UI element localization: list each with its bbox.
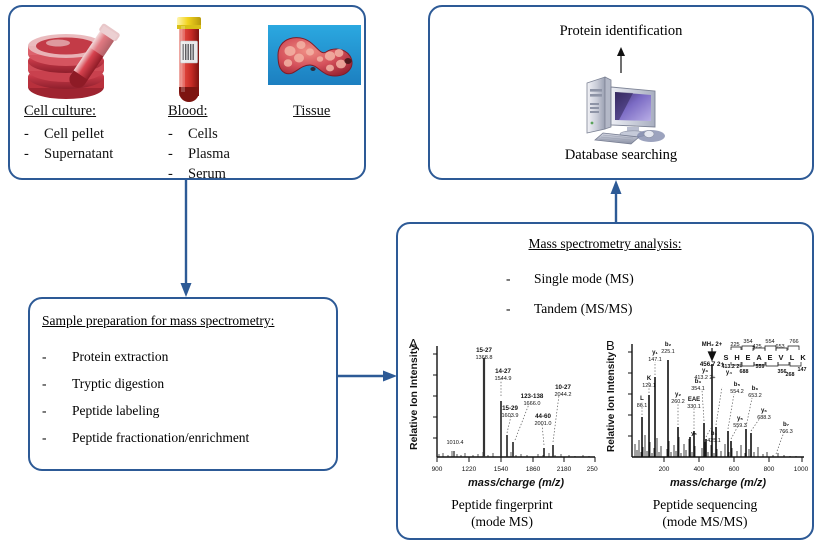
- bullet-dash: -: [24, 144, 38, 164]
- list-item: - Cell pellet: [24, 124, 113, 144]
- svg-text:1220: 1220: [462, 466, 477, 473]
- svg-text:600: 600: [729, 466, 740, 473]
- svg-text:S: S: [724, 353, 729, 362]
- list-item: - Cells: [168, 124, 230, 144]
- column-heading: Cell culture:: [24, 103, 113, 120]
- svg-text:B: B: [606, 338, 615, 353]
- caption-line-2: (mode MS/MS): [600, 513, 810, 530]
- svg-text:400: 400: [694, 466, 705, 473]
- mass-spectrometry-analysis-box: Mass spectrometry analysis: - Single mod…: [396, 222, 814, 540]
- svg-text:354: 354: [743, 339, 752, 345]
- sample-images-row: [10, 13, 364, 105]
- svg-text:1666.0: 1666.0: [523, 401, 540, 407]
- bullet-dash: -: [42, 343, 64, 370]
- svg-text:y₅: y₅: [737, 416, 743, 422]
- column-heading: Blood:: [168, 103, 230, 120]
- peptide-sequencing-spectrum: B Relative Ion Intensity 200400 600800 1…: [598, 332, 810, 492]
- prep-steps-list: - Protein extraction - Tryptic digestion…: [42, 343, 249, 451]
- svg-text:2001.0: 2001.0: [534, 421, 551, 427]
- tissue-specimen-image: [268, 25, 361, 85]
- svg-text:554.2: 554.2: [730, 389, 744, 395]
- list-item-label: Supernatant: [44, 144, 113, 164]
- svg-text:mass/charge (m/z): mass/charge (m/z): [468, 477, 564, 489]
- svg-text:1540: 1540: [494, 466, 509, 473]
- bullet-dash: -: [168, 124, 182, 144]
- list-item-label: Plasma: [188, 144, 230, 164]
- ms-title-label: Mass spectrometry analysis:: [529, 236, 682, 251]
- bullet-dash: -: [42, 397, 64, 424]
- svg-text:b₂: b₂: [665, 342, 672, 348]
- svg-text:1368.8: 1368.8: [475, 355, 492, 361]
- svg-text:15-29: 15-29: [502, 405, 518, 412]
- svg-text:653: 653: [775, 344, 784, 350]
- peptide-fingerprint-spectrum: A Relative Ion Intensity 9001220 1540186…: [403, 332, 601, 492]
- caption-line-1: Peptide sequencing: [600, 496, 810, 513]
- svg-text:E: E: [746, 353, 751, 362]
- svg-text:y₂: y₂: [675, 392, 681, 398]
- bullet-dash: -: [42, 424, 64, 451]
- svg-text:y₃: y₃: [702, 368, 708, 374]
- svg-text:V: V: [779, 353, 784, 362]
- list-item-label: Cells: [188, 124, 218, 144]
- list-item-label: Peptide labeling: [72, 397, 159, 424]
- svg-text:354.1: 354.1: [691, 386, 705, 392]
- svg-text:766.3: 766.3: [779, 429, 793, 435]
- svg-text:y₄: y₄: [726, 370, 732, 376]
- bullet-dash: -: [168, 144, 182, 164]
- svg-text:44-60: 44-60: [535, 413, 551, 420]
- svg-text:Relative Ion Intensity: Relative Ion Intensity: [408, 345, 420, 450]
- desktop-computer-image: [573, 69, 669, 147]
- arrow-prep-to-ms: [338, 368, 398, 384]
- list-item-label: Protein extraction: [72, 343, 168, 370]
- svg-text:123-138: 123-138: [521, 393, 544, 400]
- protein-identification-box: Protein identification: [428, 5, 814, 180]
- samples-box: Cell culture: - Cell pellet - Supernatan…: [8, 5, 366, 180]
- spectrum-b-caption: Peptide sequencing (mode MS/MS): [600, 496, 810, 530]
- list-item: - Tryptic digestion: [42, 370, 249, 397]
- svg-text:413.2 2+: 413.2 2+: [694, 375, 715, 381]
- svg-text:L: L: [790, 353, 795, 362]
- spectrum-a-caption: Peptide fingerprint (mode MS): [404, 496, 600, 530]
- sample-column-blood: Blood: - Cells - Plasma - Serum: [168, 103, 230, 184]
- list-item: - Peptide labeling: [42, 397, 249, 424]
- svg-text:800: 800: [764, 466, 775, 473]
- svg-text:y₆: y₆: [761, 408, 767, 414]
- svg-text:EAE: EAE: [688, 397, 700, 403]
- svg-text:mass/charge (m/z): mass/charge (m/z): [670, 477, 766, 489]
- prep-title: Sample preparation for mass spectrometry…: [42, 313, 274, 329]
- svg-text:129.1: 129.1: [642, 383, 656, 389]
- svg-text:766: 766: [789, 339, 798, 345]
- caption-line-2: (mode MS): [404, 513, 600, 530]
- bullet-dash: -: [24, 124, 38, 144]
- list-item: - Single mode (MS): [506, 264, 634, 294]
- svg-text:2044.2: 2044.2: [554, 392, 571, 398]
- ms-title: Mass spectrometry analysis:: [398, 236, 812, 252]
- protein-identification-label: Protein identification: [430, 23, 812, 40]
- list-item: - Protein extraction: [42, 343, 249, 370]
- bullet-dash: -: [506, 264, 524, 294]
- svg-text:K: K: [800, 353, 806, 362]
- svg-text:653.2: 653.2: [748, 393, 762, 399]
- list-item: - Supernatant: [24, 144, 113, 164]
- blood-collection-tube-image: [168, 15, 210, 107]
- svg-text:1000: 1000: [794, 466, 809, 473]
- svg-text:425.1: 425.1: [707, 438, 721, 444]
- svg-text:554: 554: [765, 339, 774, 345]
- list-item-label: Peptide fractionation/enrichment: [72, 424, 249, 451]
- arrow-samples-to-prep: [178, 180, 194, 298]
- svg-text:MH₂ 2+: MH₂ 2+: [702, 342, 723, 348]
- sample-column-cell-culture: Cell culture: - Cell pellet - Supernatan…: [24, 103, 113, 164]
- svg-text:1603.9: 1603.9: [501, 413, 518, 419]
- svg-text:147: 147: [798, 367, 807, 373]
- svg-text:Relative Ion Intensity: Relative Ion Intensity: [606, 352, 617, 452]
- svg-text:86.1: 86.1: [637, 403, 648, 409]
- list-item: - Plasma: [168, 144, 230, 164]
- svg-text:900: 900: [432, 466, 443, 473]
- svg-text:b₅: b₅: [734, 382, 741, 388]
- svg-text:A: A: [756, 353, 762, 362]
- caption-line-1: Peptide fingerprint: [404, 496, 600, 513]
- svg-text:688.3: 688.3: [757, 415, 771, 421]
- svg-text:15-27: 15-27: [476, 347, 492, 354]
- arrow-ms-to-id: [608, 180, 624, 224]
- svg-text:1544.9: 1544.9: [494, 376, 511, 382]
- column-list: - Cell pellet - Supernatant: [24, 124, 113, 164]
- svg-text:b₄: b₄: [711, 431, 718, 437]
- svg-text:10-27: 10-27: [555, 384, 571, 391]
- svg-text:147.1: 147.1: [648, 357, 662, 363]
- ms-modes-list: - Single mode (MS) - Tandem (MS/MS): [506, 264, 634, 324]
- svg-text:L: L: [640, 396, 644, 402]
- svg-text:E: E: [768, 353, 773, 362]
- svg-text:330.1: 330.1: [687, 404, 701, 410]
- column-list: - Cells - Plasma - Serum: [168, 124, 230, 184]
- sample-preparation-box: Sample preparation for mass spectrometry…: [28, 297, 338, 471]
- svg-text:b₇: b₇: [783, 422, 790, 428]
- svg-text:688: 688: [740, 369, 749, 375]
- svg-text:b₆: b₆: [752, 386, 759, 392]
- list-item: - Tandem (MS/MS): [506, 294, 634, 324]
- bullet-dash: -: [42, 370, 64, 397]
- list-item-label: Tandem (MS/MS): [534, 294, 632, 324]
- database-searching-label: Database searching: [430, 147, 812, 164]
- svg-text:y₅: y₅: [691, 431, 697, 437]
- list-item-label: Cell pellet: [44, 124, 104, 144]
- bullet-dash: -: [506, 294, 524, 324]
- list-item: - Peptide fractionation/enrichment: [42, 424, 249, 451]
- svg-text:559.3: 559.3: [733, 423, 747, 429]
- svg-text:268: 268: [786, 372, 795, 378]
- list-item-label: Single mode (MS): [534, 264, 634, 294]
- svg-text:2180: 2180: [557, 466, 572, 473]
- svg-text:225.1: 225.1: [661, 349, 675, 355]
- svg-text:K: K: [647, 376, 652, 382]
- column-heading: Tissue: [293, 103, 330, 120]
- cell-culture-dishes-image: [22, 21, 140, 105]
- svg-text:1010.4: 1010.4: [446, 440, 463, 446]
- svg-text:y₁: y₁: [652, 350, 658, 356]
- sample-column-tissue: Tissue: [293, 103, 330, 124]
- svg-text:H: H: [734, 353, 739, 362]
- svg-text:14-27: 14-27: [495, 368, 511, 375]
- svg-text:200: 200: [659, 466, 670, 473]
- svg-text:260.2: 260.2: [671, 399, 685, 405]
- svg-text:1860: 1860: [526, 466, 541, 473]
- list-item-label: Tryptic digestion: [72, 370, 164, 397]
